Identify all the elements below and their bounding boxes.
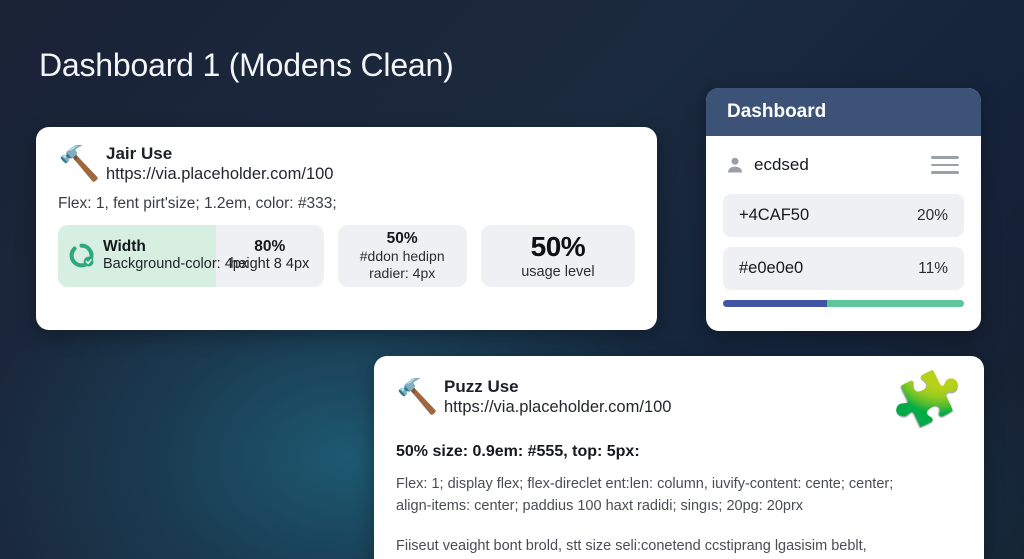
stat-box-usage[interactable]: 50% usage level bbox=[481, 225, 635, 287]
stat-box-secondary[interactable]: 50% #ddon hedipn radier: 4px bbox=[338, 225, 467, 287]
hamburger-bar bbox=[931, 171, 959, 174]
stat-box-secondary-line3: radier: 4px bbox=[369, 265, 435, 282]
bottom-card-header-texts: Puzz Use https://via.placeholder.com/100 bbox=[444, 376, 671, 419]
progress-segment-secondary bbox=[827, 300, 964, 307]
bottom-card-paragraph-line2: align-items: center; paddius 100 haxt ra… bbox=[374, 495, 984, 517]
bottom-card-heading: 50% size: 0.9em: #555, top: 5px: bbox=[374, 419, 984, 461]
stat-box-secondary-value: 50% bbox=[387, 230, 418, 249]
sidebar-title: Dashboard bbox=[727, 101, 826, 123]
sidebar-username: ecdsed bbox=[754, 155, 931, 175]
top-card-description: Flex: 1, fent pirt'size; 1.2em, color: #… bbox=[36, 186, 657, 213]
bottom-card-paragraph-line1: Flex: 1; display flex; flex-direclet ent… bbox=[374, 461, 984, 495]
list-item[interactable]: +4CAF50 20% bbox=[723, 194, 964, 237]
stat-box-width[interactable]: Width Background-color: 4px 80% height 8… bbox=[58, 225, 324, 287]
bottom-info-card[interactable]: 🧩 🔨 Puzz Use https://via.placeholder.com… bbox=[374, 356, 984, 559]
gavel-icon: 🔨 bbox=[58, 147, 106, 181]
list-item-label: +4CAF50 bbox=[739, 206, 917, 225]
stat-box-usage-value: 50% bbox=[531, 231, 586, 262]
sidebar-panel[interactable]: Dashboard ecdsed +4CAF50 20% #e0e0e0 11% bbox=[706, 88, 981, 331]
list-item-value: 20% bbox=[917, 207, 948, 225]
sync-icon bbox=[68, 242, 95, 269]
bottom-card-title: Puzz Use bbox=[444, 376, 671, 397]
hamburger-bar bbox=[931, 156, 959, 159]
bottom-card-url[interactable]: https://via.placeholder.com/100 bbox=[444, 397, 671, 418]
stat-box-width-value: 80% bbox=[254, 238, 285, 256]
avatar-icon bbox=[725, 155, 745, 175]
stat-box-width-highlight: Width Background-color: 4px bbox=[58, 225, 216, 287]
progress-bar bbox=[723, 300, 964, 307]
top-card-header: 🔨 Jair Use https://via.placeholder.com/1… bbox=[36, 127, 657, 186]
hamburger-icon[interactable] bbox=[931, 156, 959, 174]
dashboard-canvas: Dashboard 1 (Modens Clean) 🔨 Jair Use ht… bbox=[0, 0, 1024, 559]
stat-box-width-value-side: 80% height 8 4px bbox=[216, 225, 324, 287]
list-item-label: #e0e0e0 bbox=[739, 259, 918, 278]
list-item[interactable]: #e0e0e0 11% bbox=[723, 247, 964, 290]
top-card-title: Jair Use bbox=[106, 143, 333, 164]
top-card-url[interactable]: https://via.placeholder.com/100 bbox=[106, 164, 333, 185]
stat-box-usage-caption: usage level bbox=[521, 264, 594, 280]
sidebar-user-row[interactable]: ecdsed bbox=[706, 136, 981, 194]
list-item-value: 11% bbox=[918, 260, 948, 278]
stat-box-secondary-line2: #ddon hedipn bbox=[360, 248, 445, 265]
top-card-stat-strip: Width Background-color: 4px 80% height 8… bbox=[36, 213, 657, 287]
hamburger-bar bbox=[931, 164, 959, 167]
top-card-header-texts: Jair Use https://via.placeholder.com/100 bbox=[106, 143, 333, 186]
top-info-card[interactable]: 🔨 Jair Use https://via.placeholder.com/1… bbox=[36, 127, 657, 330]
sidebar-header: Dashboard bbox=[706, 88, 981, 136]
stat-box-width-value-sub: height 8 4px bbox=[230, 256, 309, 273]
gavel-icon: 🔨 bbox=[396, 380, 444, 414]
progress-segment-primary bbox=[723, 300, 827, 307]
page-title: Dashboard 1 (Modens Clean) bbox=[39, 47, 454, 84]
bottom-card-paragraph-line3: Fiiseut veaight bont brold, stt size sel… bbox=[374, 518, 984, 557]
